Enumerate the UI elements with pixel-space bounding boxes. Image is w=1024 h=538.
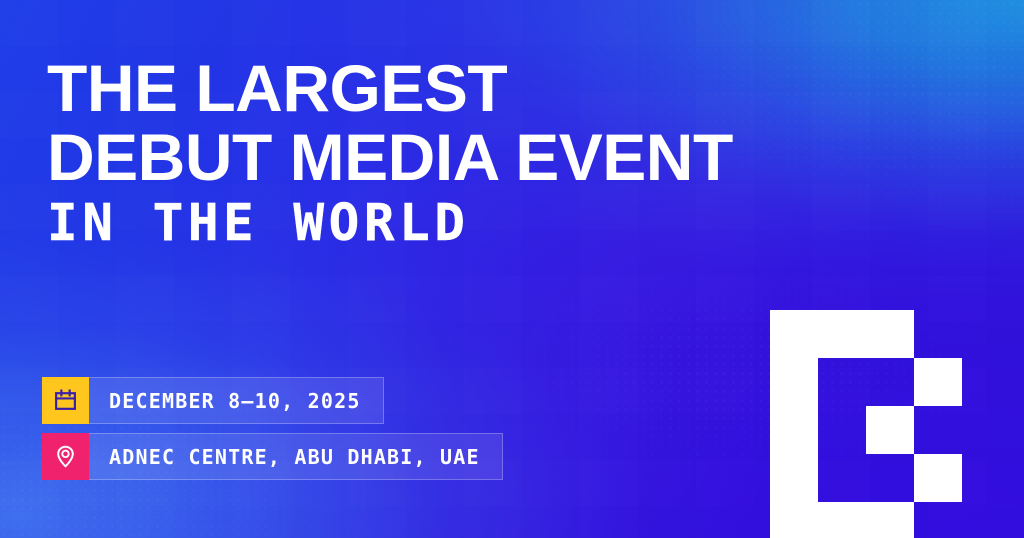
logo-cell-3-0 (770, 454, 818, 502)
logo-cell-4-2 (866, 502, 914, 538)
logo-cell-1-3 (914, 358, 962, 406)
logo-cell-1-0 (770, 358, 818, 406)
logo-cell-2-2 (866, 406, 914, 454)
event-banner: THE LARGEST DEBUT MEDIA EVENT IN THE WOR… (0, 0, 1024, 538)
pixel-c-logo (770, 310, 974, 538)
headline-line-3: IN THE WORLD (47, 200, 733, 248)
logo-cell-0-1 (818, 310, 866, 358)
headline-line-2: DEBUT MEDIA EVENT (47, 126, 733, 189)
headline-block: THE LARGEST DEBUT MEDIA EVENT IN THE WOR… (47, 57, 733, 249)
logo-cell-2-0 (770, 406, 818, 454)
event-location-badge[interactable]: ADNEC CENTRE, ABU DHABI, UAE (42, 433, 503, 480)
calendar-icon (42, 377, 89, 424)
logo-cell-3-3 (914, 454, 962, 502)
event-date-badge[interactable]: DECEMBER 8–10, 2025 (42, 377, 384, 424)
event-date-label: DECEMBER 8–10, 2025 (89, 378, 383, 423)
event-location-label: ADNEC CENTRE, ABU DHABI, UAE (89, 434, 502, 479)
event-info-badges: DECEMBER 8–10, 2025 ADNEC CENTRE, ABU DH… (42, 377, 503, 480)
location-pin-icon (42, 433, 89, 480)
logo-cell-4-0 (770, 502, 818, 538)
headline-line-1: THE LARGEST (47, 57, 733, 120)
logo-cell-0-0 (770, 310, 818, 358)
logo-cell-0-2 (866, 310, 914, 358)
logo-cell-4-1 (818, 502, 866, 538)
